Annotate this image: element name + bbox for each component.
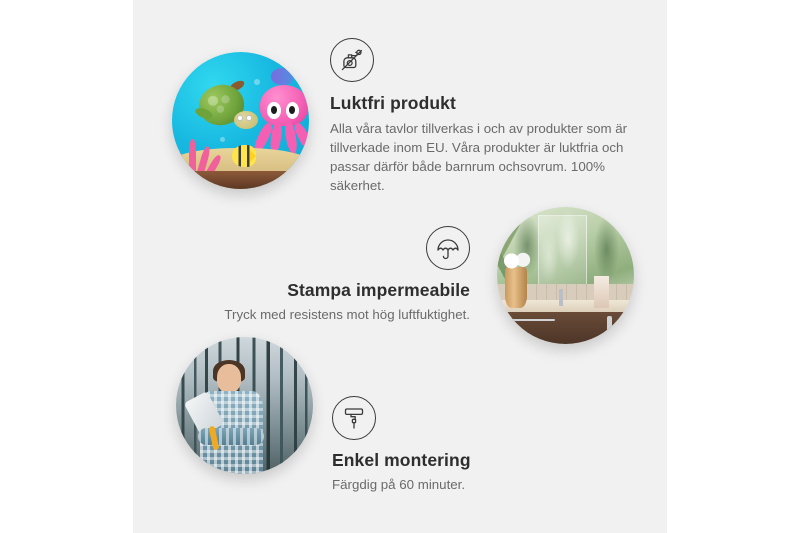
- feature-block-easy-install: Enkel montering Färgdig på 60 minuter.: [332, 396, 592, 495]
- mirror: [538, 215, 587, 286]
- feature-block-waterproof: Stampa impermeabile Tryck med resistens …: [220, 226, 470, 325]
- umbrella-icon: [426, 226, 470, 270]
- yellow-fish-icon: [232, 145, 255, 167]
- paint-roller-icon: [332, 396, 376, 440]
- flowers: [500, 251, 533, 273]
- feature-image-underwater: [172, 52, 309, 189]
- bottle: [594, 276, 609, 309]
- feature-image-bathroom: [497, 207, 634, 344]
- feature-text: Alla våra tavlor tillverkas i och av pro…: [330, 120, 630, 196]
- feature-image-installer: [176, 337, 313, 474]
- product-features-banner: Luktfri produkt Alla våra tavlor tillver…: [0, 0, 800, 533]
- sea-turtle-icon: [194, 85, 254, 130]
- feature-text: Färgdig på 60 minuter.: [332, 476, 592, 495]
- small-fish-icon: [271, 68, 293, 84]
- octopus-icon: [254, 85, 309, 151]
- faucet: [559, 289, 563, 305]
- feature-title: Luktfri produkt: [330, 93, 630, 114]
- feature-title: Stampa impermeabile: [220, 280, 470, 301]
- no-odour-spray-bottle-icon: [330, 38, 374, 82]
- sea-floor: [172, 171, 309, 189]
- feature-text: Tryck med resistens mot hög luftfuktighe…: [220, 306, 470, 325]
- feature-block-odourless: Luktfri produkt Alla våra tavlor tillver…: [330, 38, 630, 196]
- vase: [505, 267, 527, 308]
- feature-title: Enkel montering: [332, 450, 592, 471]
- wood-cabinet: [497, 312, 634, 344]
- person: [195, 364, 272, 474]
